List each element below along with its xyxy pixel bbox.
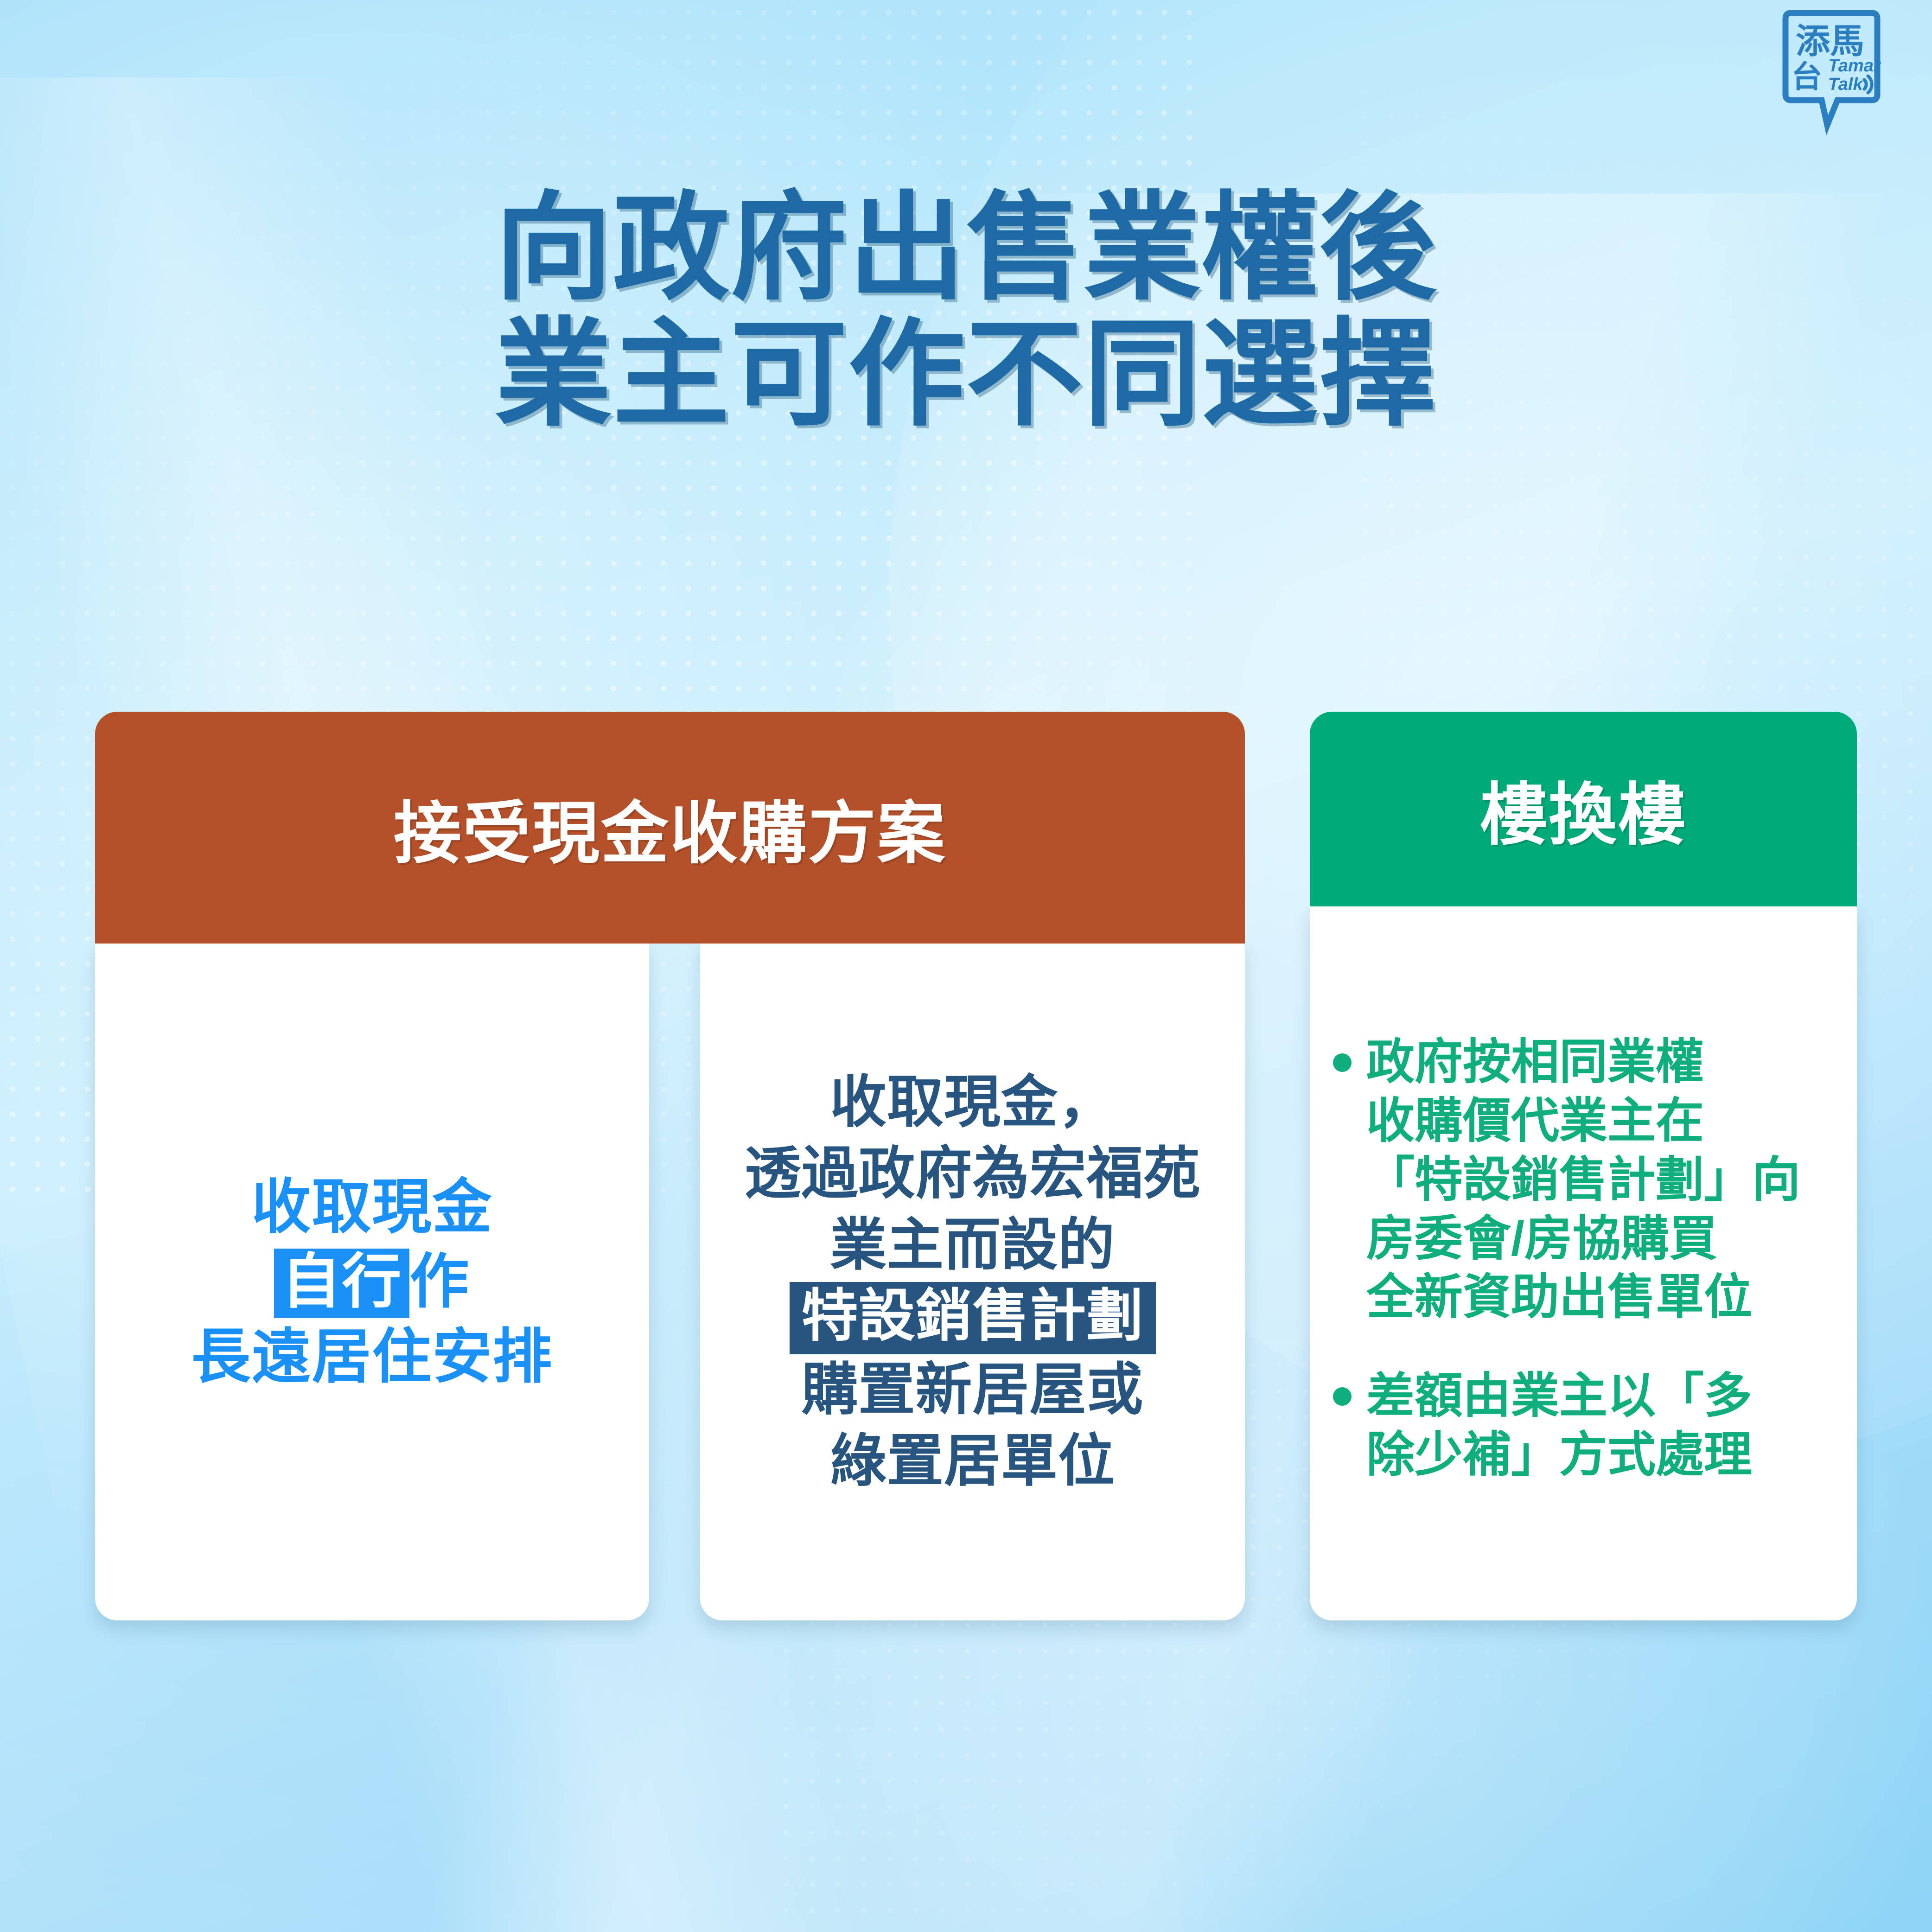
- page-title: 向政府出售業權後 業主可作不同選擇: [0, 185, 1932, 438]
- panel-flat-swap: 樓換樓 政府按相同業權 收購價代業主在 「特設銷售計劃」向 房委會/房協購買 全…: [1310, 712, 1857, 1620]
- cash-self-line-3: 長遠居住安排: [191, 1320, 553, 1394]
- cash-self-line-1: 收取現金: [191, 1170, 553, 1244]
- page-title-line-2: 業主可作不同選擇: [0, 312, 1932, 438]
- flat-swap-b1-line-4: 房委會/房協購買: [1366, 1210, 1836, 1269]
- panel-cash-offer-body: 收取現金 自行作 長遠居住安排 收取現金， 透過政府為宏福苑 業主而設的 特設銷…: [95, 944, 1245, 1620]
- flat-swap-b2-line-1: 差額由業主以「多: [1366, 1367, 1836, 1426]
- flat-swap-b1-line-5: 全新資助出售單位: [1366, 1268, 1836, 1327]
- bullet-dot-icon: [1333, 1387, 1352, 1406]
- card-cash-special-sale-scheme: 收取現金， 透過政府為宏福苑 業主而設的 特設銷售計劃 購置新居屋或 綠置居單位: [700, 944, 1245, 1620]
- bullet-dot-icon: [1333, 1053, 1352, 1072]
- tamar-talk-logo: 添馬 台 Tamar Talk: [1773, 10, 1889, 135]
- infographic-poster: 添馬 台 Tamar Talk 向政府出售業權後 業主可作不同選擇 接受現金收購…: [0, 0, 1932, 1932]
- cash-scheme-line-2: 透過政府為宏福苑: [745, 1138, 1201, 1210]
- svg-text:台: 台: [1792, 59, 1822, 94]
- flat-swap-bullet-2-text: 差額由業主以「多 除少補」方式處理: [1366, 1367, 1836, 1485]
- card-cash-self-arrangement-text: 收取現金 自行作 長遠居住安排: [191, 1170, 553, 1394]
- flat-swap-b1-line-1: 政府按相同業權: [1366, 1033, 1836, 1092]
- flat-swap-b1-line-2: 收購價代業主在: [1366, 1092, 1836, 1151]
- panel-flat-swap-header: 樓換樓: [1310, 712, 1857, 906]
- cash-scheme-line-1: 收取現金，: [745, 1067, 1201, 1138]
- panel-cash-offer: 接受現金收購方案 收取現金 自行作 長遠居住安排 收取現金， 透過政府為宏福苑 …: [95, 712, 1245, 1620]
- cash-scheme-line-3: 業主而設的: [745, 1210, 1201, 1281]
- flat-swap-bullet-1-text: 政府按相同業權 收購價代業主在 「特設銷售計劃」向 房委會/房協購買 全新資助出…: [1366, 1033, 1836, 1327]
- card-cash-self-arrangement: 收取現金 自行作 長遠居住安排: [95, 944, 649, 1620]
- flat-swap-b2-line-2: 除少補」方式處理: [1366, 1426, 1836, 1485]
- svg-text:Talk: Talk: [1828, 75, 1863, 94]
- cash-self-line-2-suffix: 作: [409, 1249, 470, 1315]
- panel-cash-offer-header: 接受現金收購方案: [95, 712, 1245, 944]
- flat-swap-b1-line-3: 「特設銷售計劃」向: [1366, 1151, 1836, 1210]
- list-item: 差額由業主以「多 除少補」方式處理: [1330, 1367, 1836, 1485]
- flat-swap-bullet-list: 政府按相同業權 收購價代業主在 「特設銷售計劃」向 房委會/房協購買 全新資助出…: [1330, 1033, 1836, 1485]
- card-cash-special-sale-scheme-text: 收取現金， 透過政府為宏福苑 業主而設的 特設銷售計劃 購置新居屋或 綠置居單位: [745, 1067, 1201, 1497]
- card-flat-swap-body: 政府按相同業權 收購價代業主在 「特設銷售計劃」向 房委會/房協購買 全新資助出…: [1310, 906, 1857, 1620]
- options-row: 接受現金收購方案 收取現金 自行作 長遠居住安排 收取現金， 透過政府為宏福苑 …: [95, 712, 1857, 1620]
- cash-scheme-line-4: 特設銷售計劃: [745, 1281, 1201, 1354]
- list-item: 政府按相同業權 收購價代業主在 「特設銷售計劃」向 房委會/房協購買 全新資助出…: [1330, 1033, 1836, 1327]
- cash-self-line-2: 自行作: [191, 1244, 553, 1319]
- highlight-self-arranged: 自行: [274, 1249, 409, 1318]
- cash-scheme-line-6: 綠置居單位: [745, 1426, 1201, 1497]
- svg-text:添馬: 添馬: [1796, 22, 1864, 60]
- cash-scheme-line-5: 購置新居屋或: [745, 1354, 1201, 1426]
- page-title-line-1: 向政府出售業權後: [0, 185, 1932, 312]
- svg-text:Tamar: Tamar: [1828, 56, 1881, 76]
- highlight-special-sale-scheme: 特設銷售計劃: [790, 1282, 1156, 1354]
